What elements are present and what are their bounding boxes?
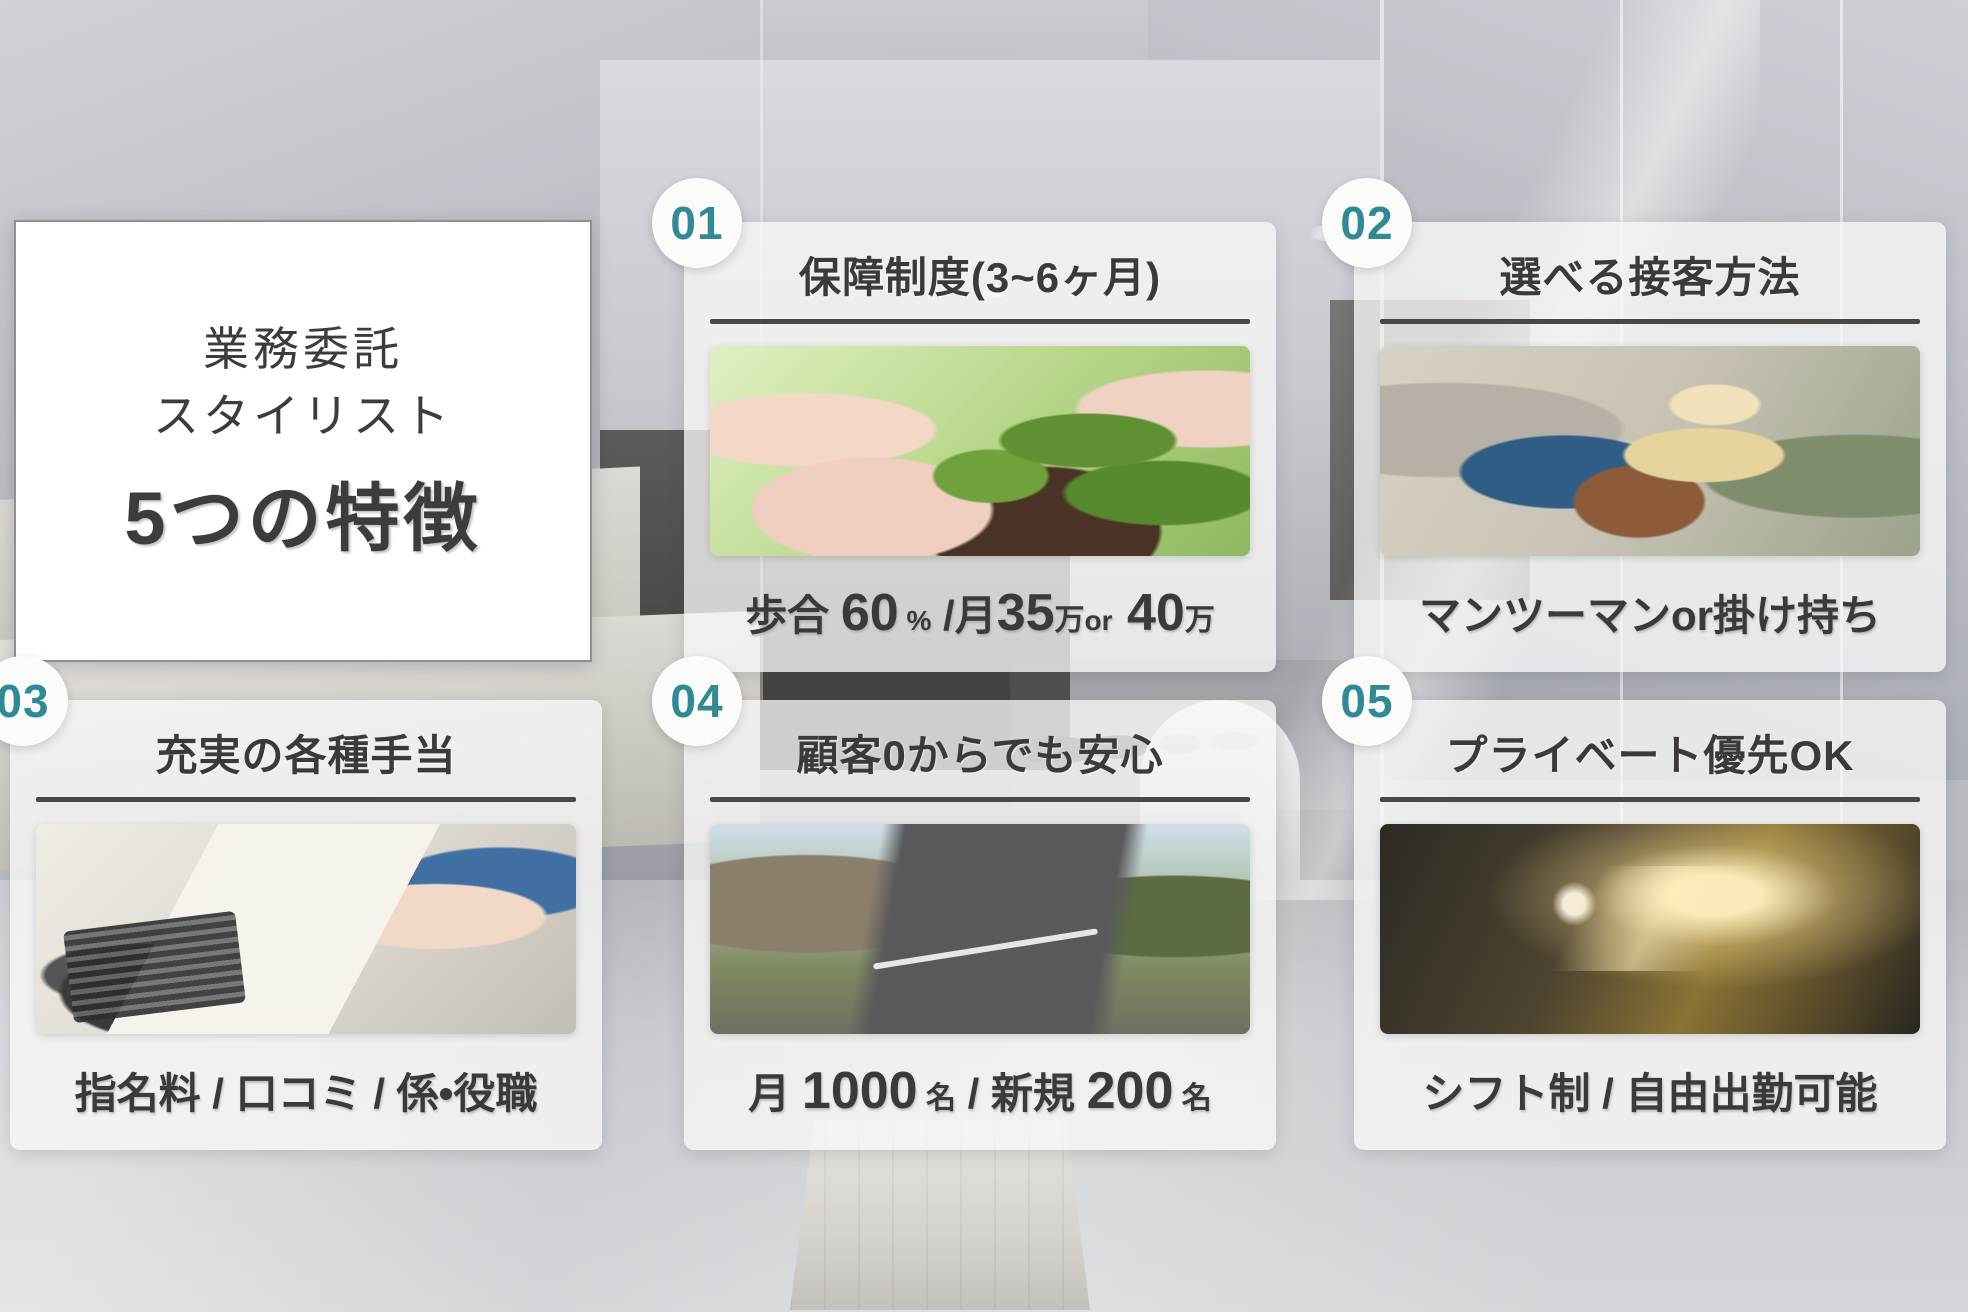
title-line-1: 業務委託 <box>203 316 403 383</box>
title-card: 業務委託 スタイリスト 5つの特徴 <box>14 220 592 662</box>
stylist-cutting-hair-photo <box>1380 346 1920 556</box>
card-badge-04: 04 <box>652 656 742 746</box>
feature-card-05[interactable]: プライベート優先OK シフト制 / 自由出勤可能 <box>1354 700 1946 1150</box>
success-road-start-photo <box>710 824 1250 1034</box>
card-divider <box>710 797 1250 802</box>
card-badge-01: 01 <box>652 178 742 268</box>
card-divider <box>710 319 1250 324</box>
card-heading-04: 顧客0からでも安心 <box>710 722 1250 783</box>
card-divider <box>1380 319 1920 324</box>
card-heading-01: 保障制度(3~6ヶ月) <box>710 244 1250 305</box>
card-heading-02: 選べる接客方法 <box>1380 244 1920 305</box>
card-divider <box>36 797 576 802</box>
card-heading-05: プライベート優先OK <box>1380 722 1920 783</box>
health-insurance-calculator-photo <box>36 824 576 1034</box>
card-caption-05: シフト制 / 自由出勤可能 <box>1380 1060 1920 1121</box>
card-badge-05: 05 <box>1322 656 1412 746</box>
card-caption-04: 月 1000 名 / 新規 200 名 <box>710 1060 1250 1121</box>
dandelion-sunlight-photo <box>1380 824 1920 1034</box>
card-caption-03: 指名料 / 口コミ / 係•役職 <box>36 1060 576 1121</box>
feature-card-02[interactable]: 選べる接客方法 マンツーマンor掛け持ち <box>1354 222 1946 672</box>
feature-card-04[interactable]: 顧客0からでも安心 月 1000 名 / 新規 200 名 <box>684 700 1276 1150</box>
hands-planting-seedling-photo <box>710 346 1250 556</box>
card-divider <box>1380 797 1920 802</box>
card-heading-03: 充実の各種手当 <box>36 722 576 783</box>
infographic-stage: 業務委託 スタイリスト 5つの特徴 01 保障制度(3~6ヶ月) 歩合 60 %… <box>0 0 1968 1312</box>
feature-card-01[interactable]: 保障制度(3~6ヶ月) 歩合 60 % /月35万or 40万 <box>684 222 1276 672</box>
card-caption-02: マンツーマンor掛け持ち <box>1380 582 1920 643</box>
card-badge-02: 02 <box>1322 178 1412 268</box>
feature-card-03[interactable]: 充実の各種手当 指名料 / 口コミ / 係•役職 <box>10 700 602 1150</box>
title-line-2: スタイリスト <box>153 383 453 450</box>
card-caption-01: 歩合 60 % /月35万or 40万 <box>710 582 1250 643</box>
title-line-3: 5つの特徴 <box>124 459 481 566</box>
